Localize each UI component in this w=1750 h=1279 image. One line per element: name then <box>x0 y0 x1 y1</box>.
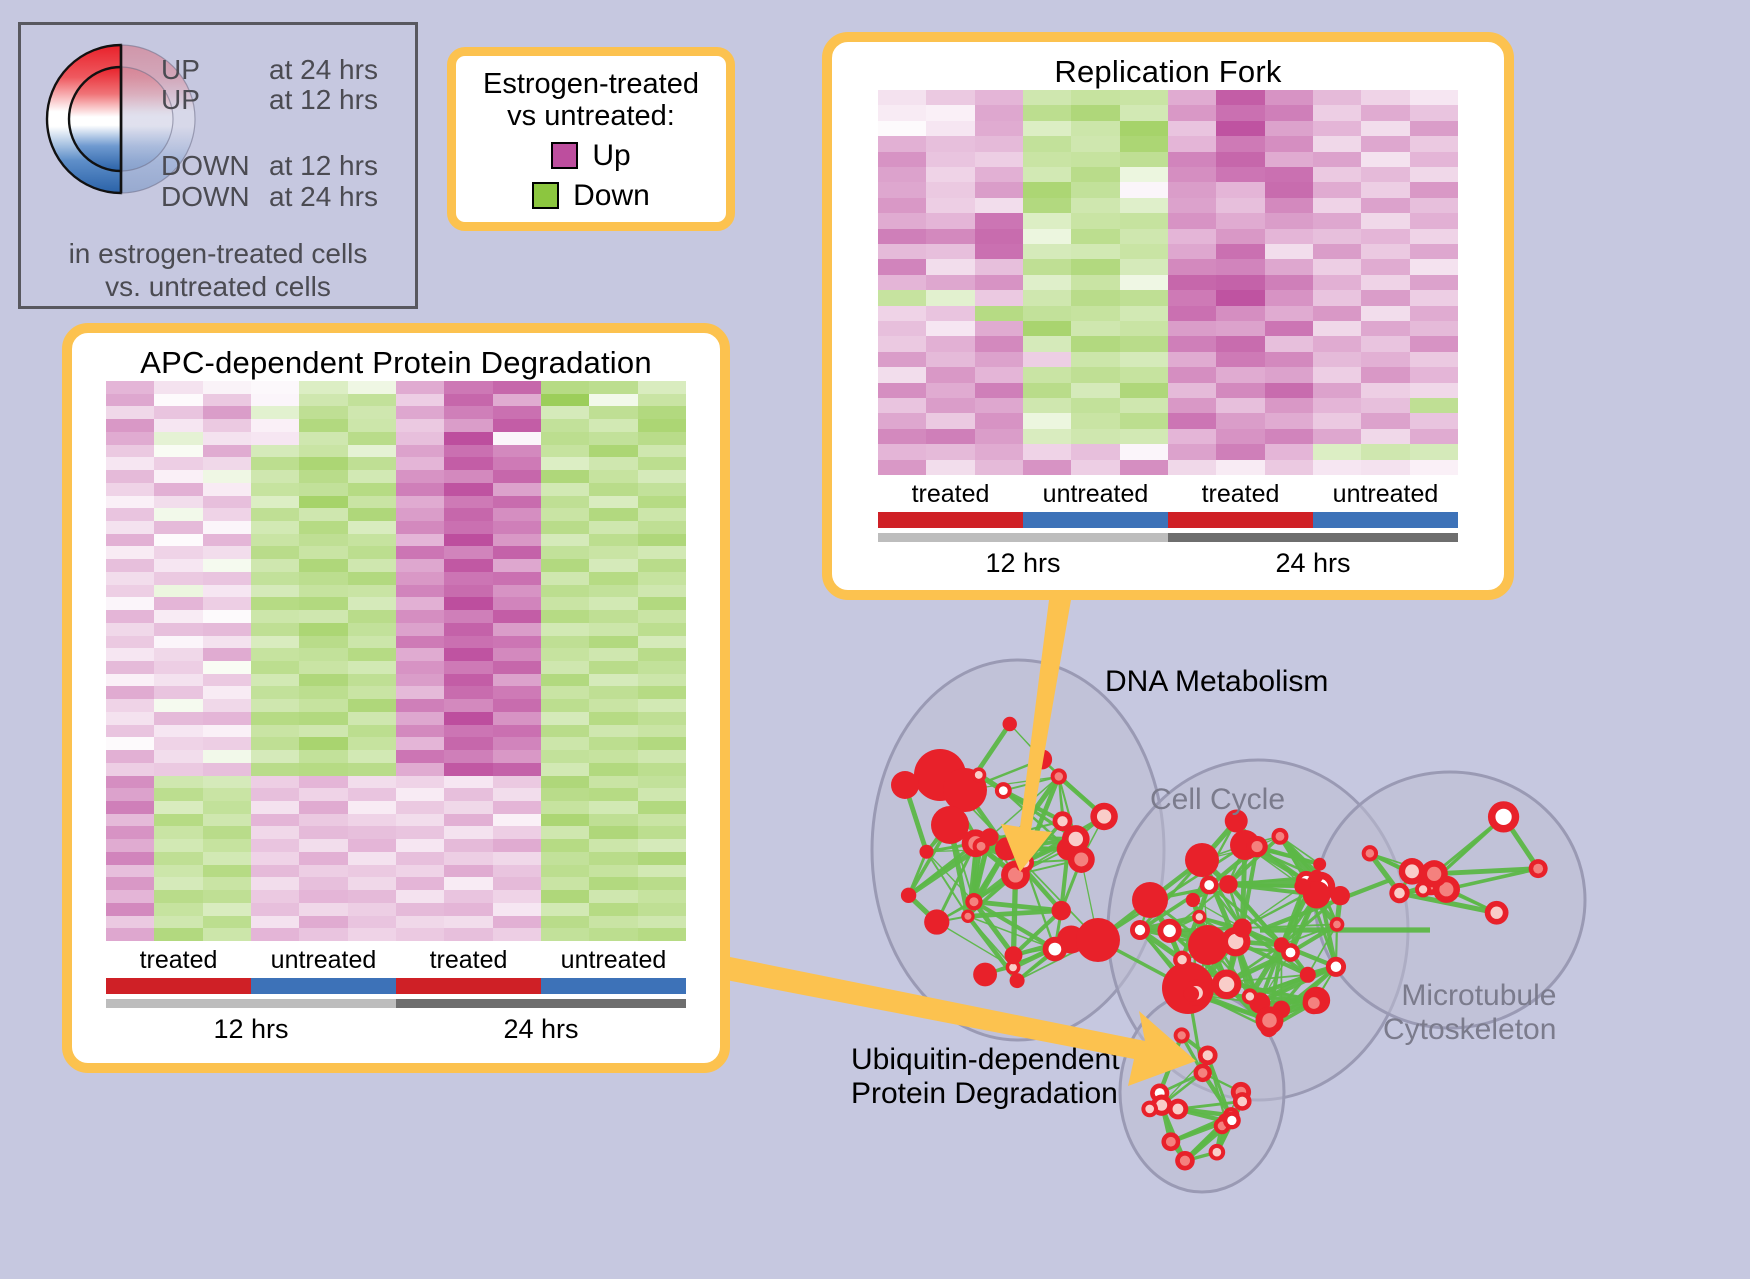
heatmap-cell <box>154 648 202 661</box>
heatmap-cell <box>299 928 347 941</box>
heatmap-cell <box>251 610 299 623</box>
heatmap-cell <box>1120 413 1168 428</box>
heatmap-cell <box>638 648 686 661</box>
heatmap-cell <box>1410 290 1458 305</box>
heatmap-cell <box>638 610 686 623</box>
heatmap-cell <box>251 559 299 572</box>
heatmap-cell <box>251 432 299 445</box>
heatmap-cell <box>203 737 251 750</box>
heatmap-cell <box>926 352 974 367</box>
heatmap-cell <box>251 406 299 419</box>
cluster-label-microtubule-cytoskeleton: Microtubule Cytoskeleton <box>1383 979 1556 1047</box>
heatmap-cell <box>348 737 396 750</box>
heatmap-cell <box>251 686 299 699</box>
up-label: Up <box>592 139 630 173</box>
heatmap-cell <box>106 916 154 929</box>
heatmap-cell <box>541 508 589 521</box>
heatmap-cell <box>106 725 154 738</box>
network-node-core <box>1213 1148 1222 1157</box>
heatmap-cell <box>444 928 492 941</box>
heatmap-cell <box>203 445 251 458</box>
heatmap-cell <box>1265 182 1313 197</box>
heatmap-cell <box>154 699 202 712</box>
heatmap-cell <box>348 712 396 725</box>
heatmap-cell <box>638 521 686 534</box>
heatmap-cell <box>1071 136 1119 151</box>
heatmap-cell <box>1265 460 1313 475</box>
heatmap-cell <box>1120 444 1168 459</box>
heatmap-cell <box>1313 198 1361 213</box>
heatmap-cell <box>541 763 589 776</box>
heatmap-cell <box>1410 444 1458 459</box>
heatmap-cell <box>1265 429 1313 444</box>
network-node-core <box>1227 1116 1236 1125</box>
heatmap-cell <box>1265 321 1313 336</box>
heatmap-cell <box>1216 182 1264 197</box>
network-node-core <box>1331 962 1342 973</box>
heatmap-cell <box>926 336 974 351</box>
figure-canvas: UP at 24 hrs UP at 12 hrs DOWN at 12 hrs… <box>0 0 1750 1279</box>
key-footer: in estrogen-treated cells vs. untreated … <box>21 237 415 303</box>
heatmap-cell <box>396 623 444 636</box>
updown-title-line-1: Estrogen-treated <box>456 68 726 100</box>
heatmap-cell <box>1216 213 1264 228</box>
heatmap-cell <box>1071 352 1119 367</box>
heatmap-cell <box>348 865 396 878</box>
heatmap-cell <box>154 903 202 916</box>
network-node-core <box>1069 832 1083 846</box>
key-time-label: at 24 hrs <box>269 55 378 85</box>
heatmap-cell <box>1168 413 1216 428</box>
heatmap-cell <box>975 90 1023 105</box>
heatmap-cell <box>638 712 686 725</box>
heatmap-cell <box>154 763 202 776</box>
network-node-core <box>1177 1031 1185 1039</box>
heatmap-cell <box>348 394 396 407</box>
heatmap-cell <box>638 763 686 776</box>
heatmap-cell <box>106 801 154 814</box>
network-node-core <box>1135 925 1145 935</box>
heatmap-cell <box>444 839 492 852</box>
condition-label: untreated <box>541 941 686 978</box>
heatmap-cell <box>926 121 974 136</box>
heatmap-cell <box>589 496 637 509</box>
heatmap-cell <box>203 457 251 470</box>
heatmap-cell <box>299 903 347 916</box>
heatmap-cell <box>154 826 202 839</box>
heatmap-cell <box>878 182 926 197</box>
heatmap-cell <box>203 763 251 776</box>
heatmap-cell <box>541 674 589 687</box>
network-node-core <box>977 842 986 851</box>
heatmap-cell <box>299 559 347 572</box>
heatmap-cell <box>1168 121 1216 136</box>
heatmap-cell <box>1361 398 1409 413</box>
heatmap-cell <box>493 699 541 712</box>
heatmap-cell <box>444 432 492 445</box>
heatmap-cell <box>251 445 299 458</box>
heatmap-cell <box>638 534 686 547</box>
heatmap-cell <box>396 699 444 712</box>
heatmap-cell <box>589 470 637 483</box>
heatmap-cell <box>493 814 541 827</box>
heatmap-cell <box>878 321 926 336</box>
network-node-core <box>964 913 971 920</box>
heatmap-cell <box>1168 306 1216 321</box>
heatmap-cell <box>299 763 347 776</box>
up-colour-swatch <box>551 142 578 169</box>
heatmap-cell <box>1023 413 1071 428</box>
heatmap-cell <box>203 610 251 623</box>
heatmap-cell <box>203 699 251 712</box>
heatmap-cell <box>106 419 154 432</box>
heatmap-cell <box>1120 398 1168 413</box>
heatmap-cell <box>1265 367 1313 382</box>
heatmap-cell <box>299 483 347 496</box>
heatmap-cell <box>975 398 1023 413</box>
heatmap-cell <box>154 610 202 623</box>
heatmap-cell <box>541 826 589 839</box>
heatmap-cell <box>251 776 299 789</box>
updown-title-line-2: vs untreated: <box>456 100 726 132</box>
heatmap-cell <box>154 419 202 432</box>
heatmap-cell <box>251 534 299 547</box>
heatmap-cell <box>1265 136 1313 151</box>
heatmap-cell <box>638 572 686 585</box>
heatmap-cell <box>1168 259 1216 274</box>
heatmap-cell <box>975 413 1023 428</box>
heatmap-cell <box>1168 182 1216 197</box>
heatmap-cell <box>251 623 299 636</box>
heatmap-cell <box>106 712 154 725</box>
heatmap-cell <box>299 661 347 674</box>
heatmap-cell <box>1313 306 1361 321</box>
condition-label: untreated <box>1023 475 1168 512</box>
heatmap-cell <box>444 445 492 458</box>
timepoint-label-row: 12 hrs24 hrs <box>878 542 1458 579</box>
heatmap-cell <box>1313 275 1361 290</box>
panel-apc-degradation: APC-dependent Protein Degradation treate… <box>62 323 730 1073</box>
heatmap-cell <box>396 788 444 801</box>
heatmap-cell <box>493 559 541 572</box>
heatmap-cell <box>493 686 541 699</box>
heatmap-cell <box>975 336 1023 351</box>
heatmap-cell <box>1313 152 1361 167</box>
heatmap-cell <box>106 636 154 649</box>
heatmap-cell <box>299 394 347 407</box>
heatmap-cell <box>1023 367 1071 382</box>
heatmap-cell <box>878 259 926 274</box>
heatmap-cell <box>203 648 251 661</box>
heatmap-cell <box>1216 460 1264 475</box>
heatmap-cell <box>396 737 444 750</box>
heatmap-cell <box>444 419 492 432</box>
heatmap-cell <box>106 559 154 572</box>
heatmap-cell <box>1168 136 1216 151</box>
network-node-core <box>1246 992 1254 1000</box>
heatmap-cell <box>444 916 492 929</box>
heatmap-cell <box>589 788 637 801</box>
heatmap-cell <box>299 699 347 712</box>
network-node-solid <box>1294 878 1310 894</box>
heatmap-cell <box>1361 259 1409 274</box>
heatmap-cell <box>1410 383 1458 398</box>
heatmap-cell <box>975 136 1023 151</box>
heatmap-cell <box>638 839 686 852</box>
heatmap-cell <box>444 559 492 572</box>
heatmap-cell <box>154 496 202 509</box>
heatmap-cell <box>106 432 154 445</box>
heatmap-cell <box>106 470 154 483</box>
heatmap-cell <box>251 648 299 661</box>
heatmap-cell <box>975 275 1023 290</box>
heatmap-cell <box>106 763 154 776</box>
heatmap-cell <box>975 306 1023 321</box>
heatmap-cell <box>348 559 396 572</box>
heatmap-cell <box>1168 90 1216 105</box>
heatmap-cell <box>444 674 492 687</box>
heatmap-cell <box>1120 152 1168 167</box>
heatmap-cell <box>1313 229 1361 244</box>
heatmap-cell <box>1265 244 1313 259</box>
heatmap-cell <box>975 444 1023 459</box>
heatmap-cell <box>444 686 492 699</box>
heatmap-cell <box>493 636 541 649</box>
key-direction-label: DOWN <box>161 151 269 181</box>
heatmap-cell <box>348 496 396 509</box>
heatmap-cell <box>154 788 202 801</box>
key-direction-label: DOWN <box>161 182 269 212</box>
heatmap-apc <box>106 381 686 941</box>
heatmap-cell <box>1023 244 1071 259</box>
network-node-solid <box>1010 973 1025 988</box>
heatmap-cell <box>106 826 154 839</box>
heatmap-cell <box>251 801 299 814</box>
heatmap-cell <box>493 483 541 496</box>
heatmap-cell <box>203 661 251 674</box>
heatmap-cell <box>589 381 637 394</box>
heatmap-cell <box>638 597 686 610</box>
heatmap-cell <box>299 521 347 534</box>
heatmap-cell <box>493 750 541 763</box>
network-node-solid <box>1032 749 1052 769</box>
heatmap-cell <box>396 508 444 521</box>
condition-label-row: treateduntreatedtreateduntreated <box>106 941 686 978</box>
heatmap-cell <box>1216 105 1264 120</box>
heatmap-cell <box>926 182 974 197</box>
heatmap-cell <box>1120 321 1168 336</box>
heatmap-cell <box>975 352 1023 367</box>
heatmap-cell <box>975 167 1023 182</box>
heatmap-cell <box>541 381 589 394</box>
heatmap-cell <box>975 229 1023 244</box>
heatmap-cell <box>203 712 251 725</box>
heatmap-cell <box>251 737 299 750</box>
heatmap-cell <box>106 496 154 509</box>
heatmap-cell <box>444 903 492 916</box>
heatmap-cell <box>638 674 686 687</box>
key-footer-line-1: in estrogen-treated cells <box>21 237 415 270</box>
heatmap-cell <box>299 496 347 509</box>
heatmap-cell <box>299 776 347 789</box>
heatmap-cell <box>493 877 541 890</box>
heatmap-cell <box>106 546 154 559</box>
heatmap-cell <box>589 776 637 789</box>
timepoint-colour-bar <box>106 999 686 1008</box>
heatmap-cell <box>396 776 444 789</box>
heatmap-cell <box>1023 121 1071 136</box>
heatmap-cell <box>589 394 637 407</box>
heatmap-cell <box>589 610 637 623</box>
heatmap-cell <box>1313 136 1361 151</box>
condition-colour-segment <box>1168 512 1313 528</box>
heatmap-cell <box>493 839 541 852</box>
heatmap-cell <box>106 788 154 801</box>
heatmap-cell <box>348 636 396 649</box>
heatmap-cell <box>396 610 444 623</box>
heatmap-cell <box>1313 121 1361 136</box>
heatmap-cell <box>203 636 251 649</box>
heatmap-cell <box>638 559 686 572</box>
heatmap-cell <box>541 903 589 916</box>
heatmap-cell <box>396 763 444 776</box>
heatmap-cell <box>396 839 444 852</box>
heatmap-cell <box>203 546 251 559</box>
network-node-core <box>1097 809 1111 823</box>
condition-label: treated <box>106 941 251 978</box>
heatmap-cell <box>638 636 686 649</box>
heatmap-cell <box>878 383 926 398</box>
heatmap-cell <box>589 725 637 738</box>
heatmap-cell <box>638 445 686 458</box>
heatmap-cell <box>396 750 444 763</box>
heatmap-cell <box>251 699 299 712</box>
heatmap-cell <box>589 763 637 776</box>
heatmap-cell <box>396 826 444 839</box>
key-time-label: at 12 hrs <box>269 151 378 181</box>
heatmap-cell <box>1071 290 1119 305</box>
heatmap-cell <box>444 826 492 839</box>
heatmap-cell <box>1071 444 1119 459</box>
heatmap-cell <box>203 928 251 941</box>
heatmap-cell <box>396 470 444 483</box>
heatmap-cell <box>638 916 686 929</box>
heatmap-cell <box>638 546 686 559</box>
heatmap-cell <box>926 460 974 475</box>
heatmap-cell <box>638 661 686 674</box>
heatmap-cell <box>348 814 396 827</box>
condition-colour-bar <box>878 512 1458 528</box>
heatmap-cell <box>1410 198 1458 213</box>
heatmap-cell <box>203 572 251 585</box>
heatmap-cell <box>589 826 637 839</box>
heatmap-cell <box>299 725 347 738</box>
heatmap-cell <box>1023 198 1071 213</box>
heatmap-cell <box>541 623 589 636</box>
heatmap-cell <box>348 763 396 776</box>
heatmap-cell <box>1216 398 1264 413</box>
heatmap-cell <box>638 750 686 763</box>
heatmap-cell <box>396 712 444 725</box>
heatmap-cell <box>638 496 686 509</box>
heatmap-cell <box>589 852 637 865</box>
heatmap-cell <box>1265 259 1313 274</box>
heatmap-cell <box>299 674 347 687</box>
colour-key-box: UP at 24 hrs UP at 12 hrs DOWN at 12 hrs… <box>18 22 418 309</box>
heatmap-cell <box>1023 429 1071 444</box>
heatmap-cell <box>1361 336 1409 351</box>
heatmap-cell <box>541 585 589 598</box>
timepoint-colour-segment <box>106 999 396 1008</box>
heatmap-cell <box>1361 244 1409 259</box>
heatmap-cell <box>299 419 347 432</box>
heatmap-cell <box>396 496 444 509</box>
heatmap-cell <box>106 686 154 699</box>
heatmap-cell <box>348 750 396 763</box>
heatmap-cell <box>926 383 974 398</box>
heatmap-cell <box>251 877 299 890</box>
cluster-label-cell-cycle: Cell Cycle <box>1150 783 1285 817</box>
heatmap-cell <box>348 788 396 801</box>
heatmap-cell <box>541 534 589 547</box>
key-row: UP at 12 hrs <box>161 85 413 115</box>
network-node-solid <box>1076 918 1120 962</box>
heatmap-cell <box>1410 306 1458 321</box>
heatmap-cell <box>1071 90 1119 105</box>
heatmap-cell <box>203 394 251 407</box>
heatmap-cell <box>1071 398 1119 413</box>
heatmap-cell <box>1071 244 1119 259</box>
heatmap-cell <box>878 167 926 182</box>
network-node-core <box>1405 864 1419 878</box>
heatmap-cell <box>154 852 202 865</box>
heatmap-cell <box>1023 105 1071 120</box>
heatmap-cell <box>251 890 299 903</box>
network-node-core <box>969 897 978 906</box>
network-node-core <box>1262 1013 1277 1028</box>
heatmap-cell <box>396 419 444 432</box>
heatmap-cell <box>926 229 974 244</box>
heatmap-cell <box>203 559 251 572</box>
heatmap-cell <box>638 737 686 750</box>
heatmap-cell <box>1023 152 1071 167</box>
network-node-solid <box>1005 946 1023 964</box>
heatmap-cell <box>638 508 686 521</box>
heatmap-cell <box>541 406 589 419</box>
heatmap-cell <box>106 839 154 852</box>
network-node-solid <box>901 888 916 903</box>
heatmap-cell <box>1168 167 1216 182</box>
heatmap-cell <box>154 394 202 407</box>
heatmap-cell <box>975 321 1023 336</box>
heatmap-cell <box>1361 352 1409 367</box>
key-row: DOWN at 12 hrs <box>161 151 413 181</box>
heatmap-cell <box>1361 167 1409 182</box>
heatmap-cell <box>589 839 637 852</box>
heatmap-cell <box>154 432 202 445</box>
heatmap-cell <box>444 546 492 559</box>
heatmap-cell <box>203 890 251 903</box>
heatmap-cell <box>299 457 347 470</box>
heatmap-cell <box>154 776 202 789</box>
heatmap-cell <box>444 763 492 776</box>
heatmap-cell <box>878 429 926 444</box>
heatmap-cell <box>106 877 154 890</box>
heatmap-cell <box>1410 167 1458 182</box>
network-node-solid <box>919 845 933 859</box>
key-spacer <box>161 115 413 151</box>
heatmap-cell <box>154 725 202 738</box>
